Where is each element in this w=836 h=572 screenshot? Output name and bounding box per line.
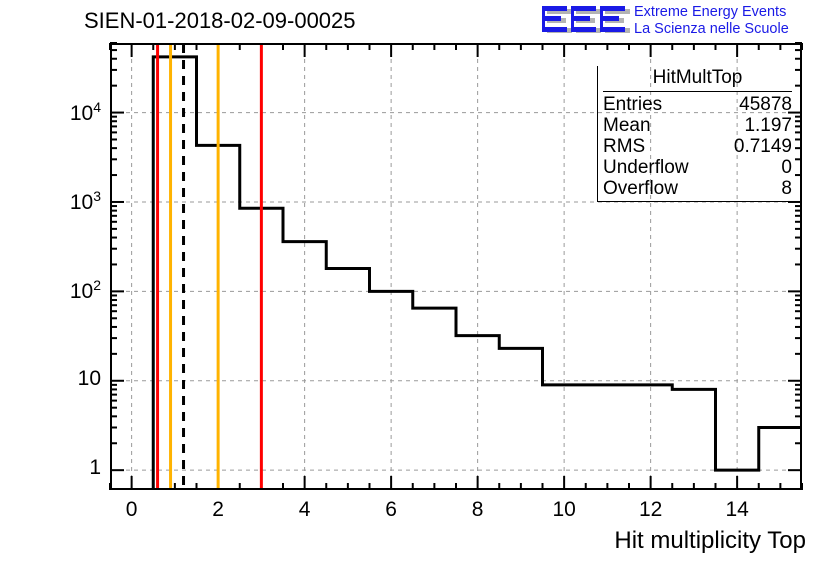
- stats-row-value: 0.7149: [734, 136, 792, 158]
- stats-row: RMS0.7149: [603, 136, 792, 158]
- chart-canvas: SIEN-01-2018-02-09-00025: [0, 0, 836, 572]
- x-tick-label: 6: [361, 498, 421, 522]
- x-tick-label: 8: [448, 498, 508, 522]
- stats-row: Entries45878: [603, 94, 792, 116]
- stats-row-value: 45878: [739, 94, 792, 116]
- x-tick-label: 4: [275, 498, 335, 522]
- stats-divider: [603, 91, 792, 92]
- y-tick-label: 10: [78, 367, 101, 391]
- x-tick-label: 0: [102, 498, 162, 522]
- stats-row-key: Overflow: [603, 178, 678, 200]
- stats-row-key: Underflow: [603, 157, 689, 179]
- stats-row-value: 8: [781, 178, 792, 200]
- y-tick-label: 1: [89, 456, 101, 480]
- y-tick-label: 104: [70, 99, 101, 126]
- stats-row-key: Mean: [603, 115, 651, 137]
- x-tick-label: 14: [707, 498, 767, 522]
- y-tick-label: 102: [70, 277, 101, 304]
- x-tick-label: 10: [534, 498, 594, 522]
- x-tick-label: 12: [621, 498, 681, 522]
- stats-row: Mean1.197: [603, 115, 792, 137]
- stats-row-key: Entries: [603, 94, 662, 116]
- stats-row: Overflow8: [603, 178, 792, 200]
- y-tick-label: 103: [70, 188, 101, 215]
- x-axis-title: Hit multiplicity Top: [614, 527, 806, 555]
- x-tick-label: 2: [188, 498, 248, 522]
- stats-row-key: RMS: [603, 136, 645, 158]
- stats-box: HitMultTop Entries45878Mean1.197RMS0.714…: [597, 66, 798, 202]
- stats-row-value: 0: [781, 157, 792, 179]
- stats-title: HitMultTop: [597, 66, 798, 91]
- stats-row-value: 1.197: [744, 115, 792, 137]
- stats-row: Underflow0: [603, 157, 792, 179]
